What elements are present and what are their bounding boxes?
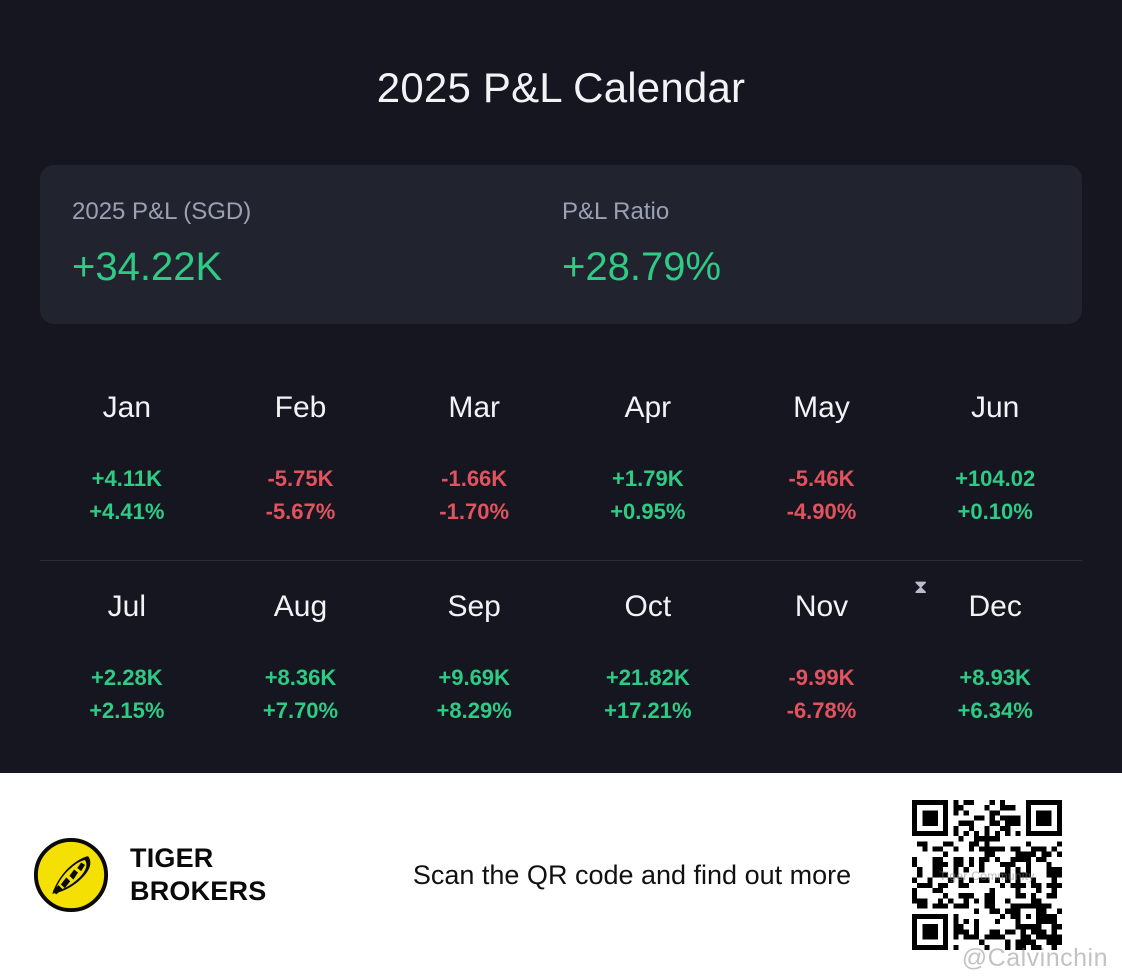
month-percent: +4.41% bbox=[40, 495, 214, 528]
month-name: Oct bbox=[561, 589, 735, 625]
month-amount: -5.75K bbox=[214, 462, 388, 495]
dark-content-panel: 2025 P&L Calendar 2025 P&L (SGD) +34.22K… bbox=[0, 0, 1122, 773]
month-amount: +4.11K bbox=[40, 462, 214, 495]
qr-code-block[interactable]: Tiger Community bbox=[912, 796, 1062, 954]
month-amount: +104.02 bbox=[908, 462, 1082, 495]
summary-pnl-label: 2025 P&L (SGD) bbox=[72, 198, 562, 227]
month-percent: -4.90% bbox=[735, 495, 909, 528]
month-name: Apr bbox=[561, 390, 735, 426]
summary-ratio-value: +28.79% bbox=[562, 244, 721, 290]
month-amount: +21.82K bbox=[561, 661, 735, 694]
month-name: Aug bbox=[214, 589, 388, 625]
month-cell-feb[interactable]: Feb-5.75K-5.67% bbox=[214, 384, 388, 538]
month-percent: +7.70% bbox=[214, 694, 388, 727]
summary-pnl-value: +34.22K bbox=[72, 244, 562, 290]
brand-name-line1: TIGER bbox=[130, 843, 214, 873]
month-cell-nov[interactable]: Nov-9.99K-6.78% bbox=[735, 583, 909, 737]
qr-code-icon[interactable] bbox=[912, 796, 1062, 954]
month-amount: +2.28K bbox=[40, 661, 214, 694]
month-name: Sep bbox=[387, 589, 561, 625]
hourglass-icon: ⧗ bbox=[914, 578, 927, 597]
month-cell-oct[interactable]: Oct+21.82K+17.21% bbox=[561, 583, 735, 737]
month-percent: +6.34% bbox=[908, 694, 1082, 727]
summary-pnl-cell: 2025 P&L (SGD) +34.22K bbox=[72, 198, 562, 291]
month-cell-dec[interactable]: Dec+8.93K+6.34% bbox=[908, 583, 1082, 737]
month-name: Jul bbox=[40, 589, 214, 625]
month-amount: -1.66K bbox=[387, 462, 561, 495]
brand-name: TIGER BROKERS bbox=[130, 842, 266, 908]
month-percent: +2.15% bbox=[40, 694, 214, 727]
month-row: Jan+4.11K+4.41%Feb-5.75K-5.67%Mar-1.66K-… bbox=[40, 384, 1082, 538]
month-name: Dec bbox=[908, 589, 1082, 625]
month-percent: -6.78% bbox=[735, 694, 909, 727]
months-grid: Jan+4.11K+4.41%Feb-5.75K-5.67%Mar-1.66K-… bbox=[40, 384, 1082, 737]
month-cell-jun[interactable]: Jun+104.02+0.10% bbox=[908, 384, 1082, 538]
month-cell-aug[interactable]: Aug+8.36K+7.70% bbox=[214, 583, 388, 737]
month-name: May bbox=[735, 390, 909, 426]
brand-block: TIGER BROKERS bbox=[32, 836, 392, 914]
month-cell-jul[interactable]: Jul+2.28K+2.15% bbox=[40, 583, 214, 737]
month-amount: -5.46K bbox=[735, 462, 909, 495]
month-percent: -5.67% bbox=[214, 495, 388, 528]
month-amount: -9.99K bbox=[735, 661, 909, 694]
month-percent: +8.29% bbox=[387, 694, 561, 727]
summary-ratio-label: P&L Ratio bbox=[562, 198, 721, 227]
summary-ratio-cell: P&L Ratio +28.79% bbox=[562, 198, 721, 291]
month-percent: +17.21% bbox=[561, 694, 735, 727]
month-amount: +1.79K bbox=[561, 462, 735, 495]
footer-bar: TIGER BROKERS Scan the QR code and find … bbox=[0, 773, 1122, 977]
month-name: Jun bbox=[908, 390, 1082, 426]
pnl-calendar-screen: 2025 P&L Calendar 2025 P&L (SGD) +34.22K… bbox=[0, 0, 1122, 977]
month-name: Nov bbox=[735, 589, 909, 625]
brand-name-line2: BROKERS bbox=[130, 876, 266, 906]
month-amount: +9.69K bbox=[387, 661, 561, 694]
summary-card: 2025 P&L (SGD) +34.22K P&L Ratio +28.79% bbox=[40, 165, 1082, 324]
tiger-logo-icon bbox=[32, 836, 110, 914]
month-cell-mar[interactable]: Mar-1.66K-1.70% bbox=[387, 384, 561, 538]
month-cell-may[interactable]: May-5.46K-4.90% bbox=[735, 384, 909, 538]
month-cell-jan[interactable]: Jan+4.11K+4.41% bbox=[40, 384, 214, 538]
month-cell-sep[interactable]: Sep+9.69K+8.29% bbox=[387, 583, 561, 737]
month-cell-apr[interactable]: Apr+1.79K+0.95% bbox=[561, 384, 735, 538]
page-title: 2025 P&L Calendar bbox=[40, 0, 1082, 115]
scan-instruction-text: Scan the QR code and find out more bbox=[392, 860, 912, 891]
month-name: Jan bbox=[40, 390, 214, 426]
month-amount: +8.93K bbox=[908, 661, 1082, 694]
month-percent: +0.95% bbox=[561, 495, 735, 528]
month-name: Feb bbox=[214, 390, 388, 426]
month-amount: +8.36K bbox=[214, 661, 388, 694]
month-name: Mar bbox=[387, 390, 561, 426]
month-percent: -1.70% bbox=[387, 495, 561, 528]
month-percent: +0.10% bbox=[908, 495, 1082, 528]
